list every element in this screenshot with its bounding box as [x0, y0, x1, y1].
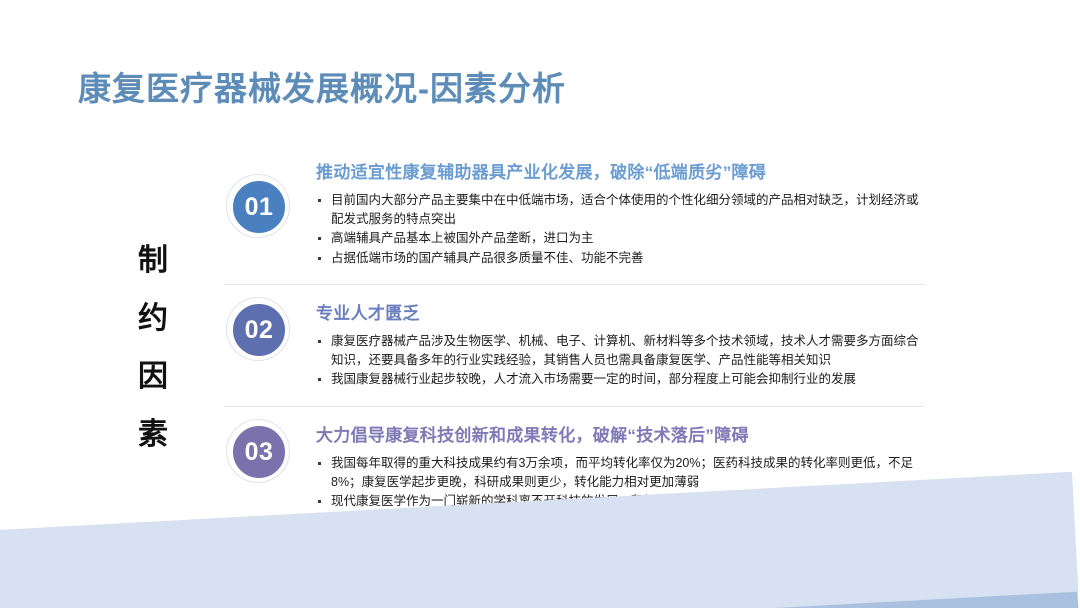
content-column: 01 推动适宜性康复辅助器具产业化发展，破除“低端质劣”障碍 目前国内大部分产品…: [224, 158, 924, 530]
section-heading-01: 推动适宜性康复辅助器具产业化发展，破除“低端质劣”障碍: [316, 162, 924, 184]
number-badge-01: 01: [226, 174, 292, 240]
bullet-list-02: 康复医疗器械产品涉及生物医学、机械、电子、计算机、新材料等多个技术领域，技术人才…: [316, 332, 924, 389]
vertical-label-char-1: 制: [128, 232, 178, 290]
badge-number-02: 02: [231, 302, 287, 358]
factor-section-01: 01 推动适宜性康复辅助器具产业化发展，破除“低端质劣”障碍 目前国内大部分产品…: [224, 162, 924, 274]
bullet-list-03: 我国每年取得的重大科技成果约有3万余项，而平均转化率仅为20%；医药科技成果的转…: [316, 454, 924, 529]
factor-section-02: 02 专业人才匮乏 康复医疗器械产品涉及生物医学、机械、电子、计算机、新材料等多…: [224, 284, 924, 396]
list-item: 我国康复器械行业起步较晚，人才流入市场需要一定的时间，部分程度上可能会抑制行业的…: [316, 370, 924, 389]
page-title: 康复医疗器械发展概况-因素分析: [78, 62, 566, 110]
list-item: 现代康复医学作为一门崭新的学科离不开科技的发展，积极倡导高科技产品在康复领域的应…: [316, 492, 924, 529]
badge-number-03: 03: [231, 424, 287, 480]
list-item: 目前国内大部分产品主要集中在中低端市场，适合个体使用的个性化细分领域的产品相对缺…: [316, 191, 924, 228]
badge-number-01: 01: [231, 179, 287, 235]
vertical-label-char-3: 因: [128, 348, 178, 406]
factor-section-03: 03 大力倡导康复科技创新和成果转化，破解“技术落后”障碍 我国每年取得的重大科…: [224, 406, 924, 529]
section-heading-02: 专业人才匮乏: [316, 303, 924, 325]
section-heading-03: 大力倡导康复科技创新和成果转化，破解“技术落后”障碍: [316, 425, 924, 447]
number-badge-02: 02: [226, 297, 292, 363]
slide-canvas: 康复医疗器械发展概况-因素分析 制 约 因 素 01 推动适宜性康复辅助器具产业…: [0, 0, 1080, 608]
bullet-list-01: 目前国内大部分产品主要集中在中低端市场，适合个体使用的个性化细分领域的产品相对缺…: [316, 191, 924, 267]
vertical-label-char-4: 素: [128, 406, 178, 464]
vertical-section-label: 制 约 因 素: [128, 232, 178, 464]
list-item: 康复医疗器械产品涉及生物医学、机械、电子、计算机、新材料等多个技术领域，技术人才…: [316, 332, 924, 369]
vertical-label-char-2: 约: [128, 290, 178, 348]
list-item: 占据低端市场的国产辅具产品很多质量不佳、功能不完善: [316, 249, 924, 268]
list-item: 高端辅具产品基本上被国外产品垄断，进口为主: [316, 229, 924, 248]
list-item: 我国每年取得的重大科技成果约有3万余项，而平均转化率仅为20%；医药科技成果的转…: [316, 454, 924, 491]
number-badge-03: 03: [226, 419, 292, 485]
